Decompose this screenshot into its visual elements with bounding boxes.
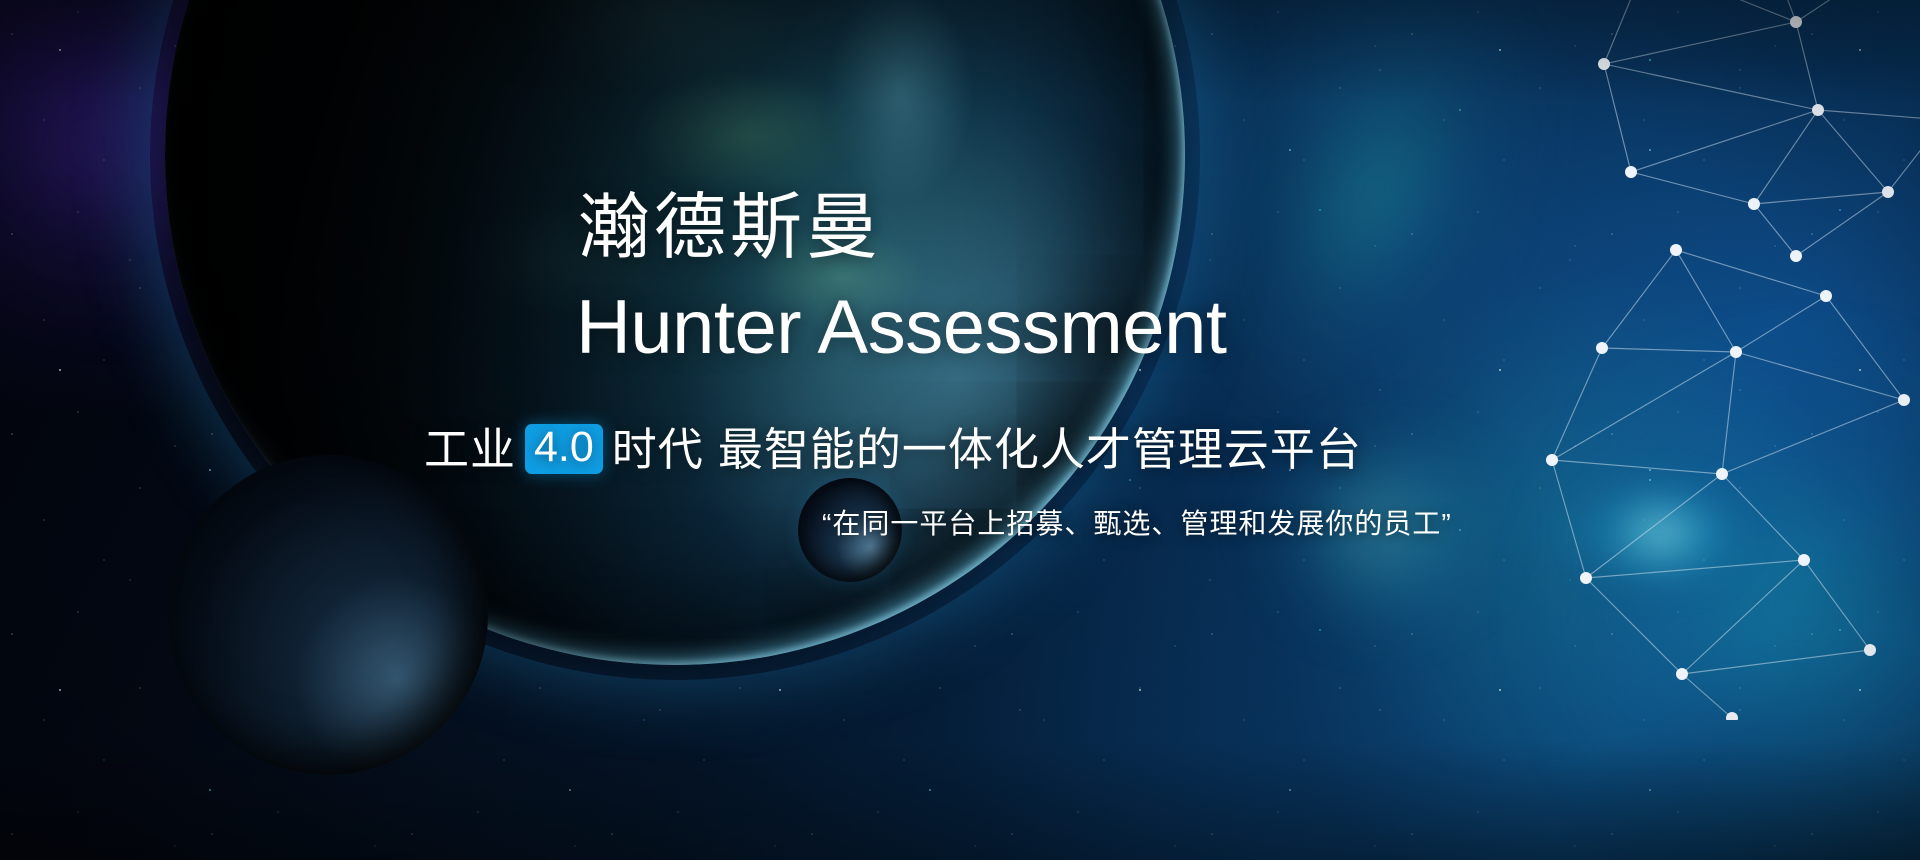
hero-subtitle: 工业 4.0 时代 最智能的一体化人才管理云平台	[424, 424, 1362, 474]
industry-version-badge: 4.0	[525, 424, 603, 474]
brand-title-chinese: 瀚德斯曼	[578, 192, 882, 264]
hero-copy: 瀚德斯曼 Hunter Assessment 工业 4.0 时代 最智能的一体化…	[0, 0, 1920, 860]
subtitle-suffix: 时代	[612, 427, 704, 472]
subtitle-prefix: 工业	[424, 427, 516, 472]
hero-tagline: “在同一平台上招募、甄选、管理和发展你的员工”	[822, 510, 1452, 538]
subtitle-tail: 最智能的一体化人才管理云平台	[718, 427, 1362, 472]
hero-banner: 瀚德斯曼 Hunter Assessment 工业 4.0 时代 最智能的一体化…	[0, 0, 1920, 860]
brand-title-english: Hunter Assessment	[576, 290, 1226, 366]
